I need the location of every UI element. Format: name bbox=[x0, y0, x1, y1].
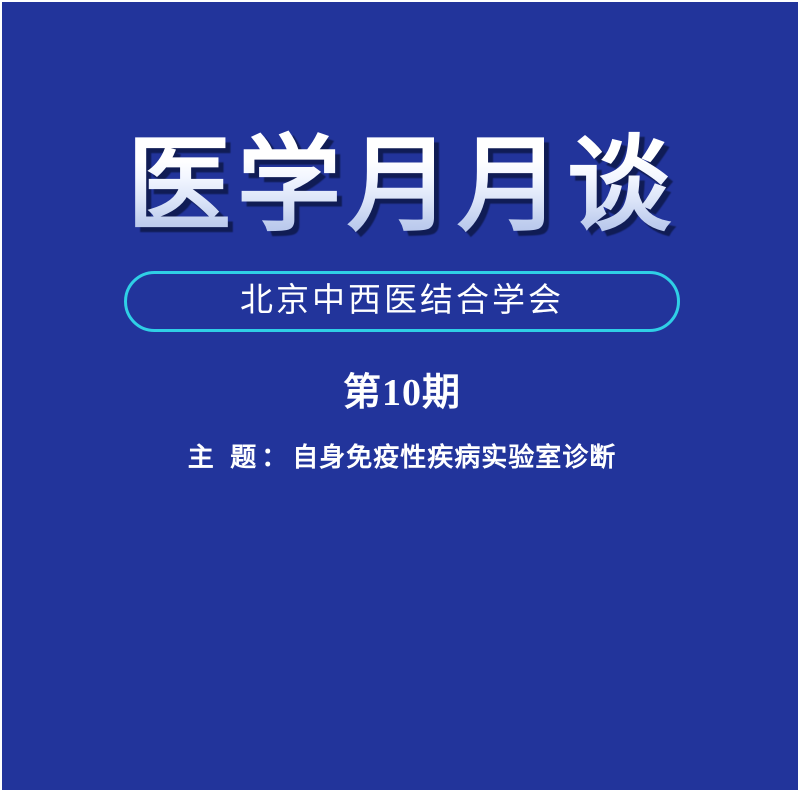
issue-number: 第10期 bbox=[2, 373, 800, 415]
topic-label: 主 题： bbox=[188, 443, 293, 472]
organization-pill: 北京中西医结合学会 bbox=[124, 271, 680, 332]
poster-title-text: 医学月月谈 bbox=[2, 130, 800, 244]
topic-line: 主 题：自身免疫性疾病实验室诊断 bbox=[2, 442, 800, 473]
topic-value: 自身免疫性疾病实验室诊断 bbox=[292, 443, 616, 472]
organization-name: 北京中西医结合学会 bbox=[240, 285, 564, 318]
poster-canvas: 医学月月谈 医学月月谈 北京中西医结合学会 第10期 主 题：自身免疫性疾病实验… bbox=[0, 0, 800, 790]
poster-title: 医学月月谈 医学月月谈 bbox=[2, 130, 800, 244]
